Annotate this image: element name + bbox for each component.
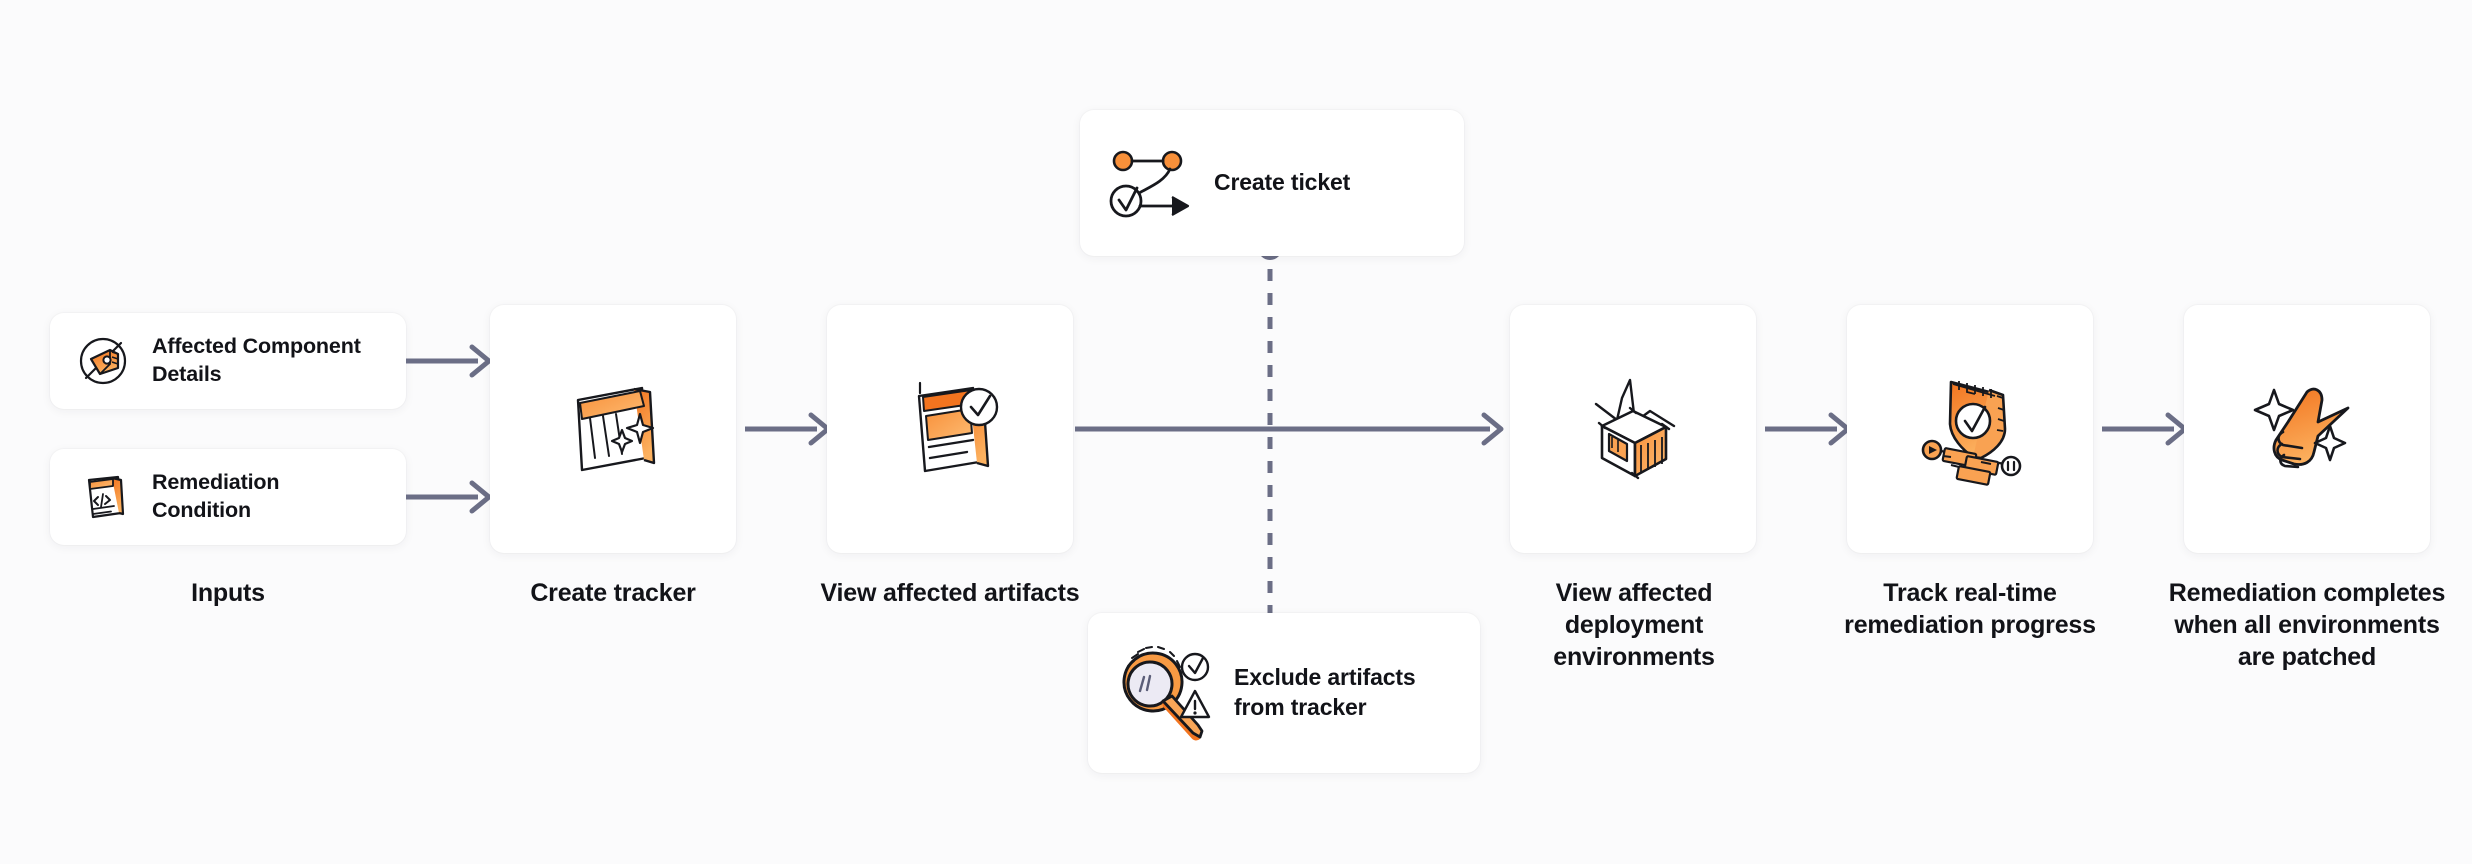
arrow-input1-to-create-tracker: [406, 340, 498, 382]
arrow-view-environments-to-track-progress: [1765, 408, 1857, 450]
branch-card-label: Exclude artifacts from tracker: [1234, 663, 1454, 723]
step-card-view-affected-artifacts[interactable]: [827, 305, 1073, 553]
input-card-remediation-condition[interactable]: Remediation Condition: [50, 449, 406, 545]
view-affected-deployment-environments-icon: [1570, 366, 1696, 492]
input-card-affected-component-details[interactable]: Affected Component Details: [50, 313, 406, 409]
arrow-view-artifacts-to-view-environments: [1075, 408, 1510, 450]
inputs-group-label: Inputs: [50, 577, 406, 609]
create-ticket-icon: [1106, 145, 1198, 221]
branch-card-exclude-artifacts[interactable]: Exclude artifacts from tracker: [1088, 613, 1480, 773]
track-realtime-remediation-progress-icon: [1907, 366, 2033, 492]
step-label-create-tracker: Create tracker: [474, 577, 752, 609]
step-card-create-tracker[interactable]: [490, 305, 736, 553]
step-label-remediation-complete: Remediation completes when all environme…: [2165, 577, 2449, 673]
step-card-view-affected-deployment-environments[interactable]: [1510, 305, 1756, 553]
input-card-label: Affected Component Details: [152, 333, 384, 388]
step-card-remediation-complete[interactable]: [2184, 305, 2430, 553]
remediation-complete-thumbs-up-icon: [2244, 366, 2370, 492]
workflow-diagram: Affected Component Details Remediation C…: [0, 0, 2472, 864]
arrow-create-tracker-to-view-artifacts: [745, 408, 837, 450]
branch-card-create-ticket[interactable]: Create ticket: [1080, 110, 1464, 256]
arrow-input2-to-create-tracker: [406, 476, 498, 518]
input-card-label: Remediation Condition: [152, 469, 384, 524]
dashed-branch-connector: [1260, 245, 1280, 645]
exclude-artifacts-icon: [1114, 641, 1218, 745]
step-label-view-affected-artifacts: View affected artifacts: [815, 577, 1085, 609]
create-tracker-icon: [554, 370, 672, 488]
step-label-track-realtime-remediation-progress: Track real-time remediation progress: [1834, 577, 2106, 641]
branch-card-label: Create ticket: [1214, 168, 1350, 198]
view-affected-artifacts-icon: [891, 370, 1009, 488]
step-label-view-affected-deployment-environments: View affected deployment environments: [1495, 577, 1773, 673]
affected-component-details-icon: [72, 330, 134, 392]
arrow-track-progress-to-remediation-complete: [2102, 408, 2194, 450]
step-card-track-realtime-remediation-progress[interactable]: [1847, 305, 2093, 553]
remediation-condition-icon: [72, 466, 134, 528]
